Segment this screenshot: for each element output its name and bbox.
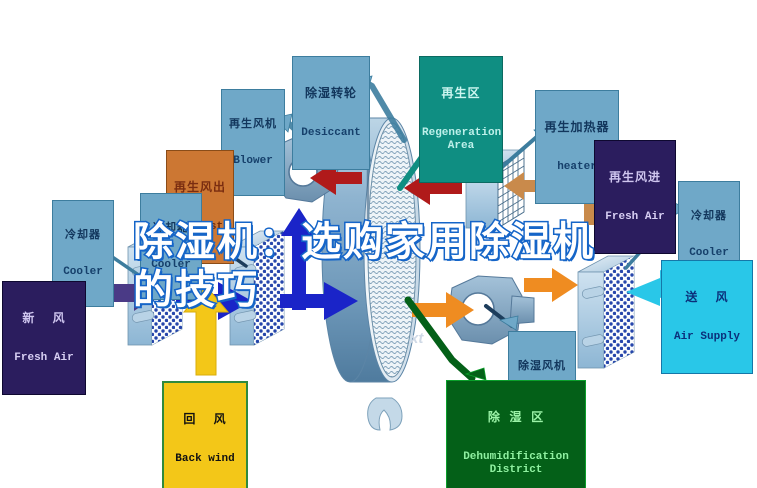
- diagram-canvas: xt 除湿转轮 Desiccant 再生风机 Blower 再生风出 Exhau…: [0, 0, 757, 488]
- label-regen-area-cn: 再生区: [422, 87, 500, 100]
- label-dehum-district-en: Dehumidification District: [449, 451, 583, 476]
- label-regen-fresh-air-cn: 再生风进: [597, 171, 673, 184]
- page-title-line1: 除湿机：选购家用除湿机: [133, 219, 595, 265]
- label-desiccant-cn: 除湿转轮: [295, 87, 367, 100]
- label-fresh-air-en: Fresh Air: [5, 352, 83, 364]
- label-back-wind-cn: 回 风: [166, 413, 244, 426]
- page-title: 除湿机：选购家用除湿机 的技巧: [133, 218, 633, 314]
- label-dehum-district-cn: 除 湿 区: [449, 411, 583, 424]
- label-cooler-left-en: Cooler: [55, 266, 111, 278]
- label-regen-blower-cn: 再生风机: [224, 118, 282, 130]
- label-air-supply: 送 风 Air Supply: [661, 260, 753, 374]
- label-regen-area: 再生区 Regeneration Area: [419, 56, 503, 183]
- label-desiccant: 除湿转轮 Desiccant: [292, 56, 370, 170]
- label-regen-area-en: Regeneration Area: [422, 127, 500, 152]
- label-cooler-right-cn: 冷却器: [681, 210, 737, 222]
- label-air-supply-en: Air Supply: [664, 331, 750, 343]
- page-title-line2: 的技巧: [133, 266, 633, 314]
- label-dehum-blower-cn: 除湿风机: [511, 360, 573, 372]
- label-cooler-right-en: Cooler: [681, 247, 737, 259]
- label-desiccant-en: Desiccant: [295, 127, 367, 139]
- label-regen-heater-cn: 再生加热器: [538, 121, 616, 134]
- watermark: xt: [410, 330, 423, 347]
- label-dehum-district: 除 湿 区 Dehumidification District: [446, 380, 586, 488]
- label-fresh-air-cn: 新 风: [5, 312, 83, 325]
- label-air-supply-cn: 送 风: [664, 291, 750, 304]
- label-back-wind-en: Back wind: [166, 453, 244, 465]
- label-cooler-left-cn: 冷却器: [55, 229, 111, 241]
- label-fresh-air: 新 风 Fresh Air: [2, 281, 86, 395]
- label-back-wind: 回 风 Back wind: [162, 381, 248, 488]
